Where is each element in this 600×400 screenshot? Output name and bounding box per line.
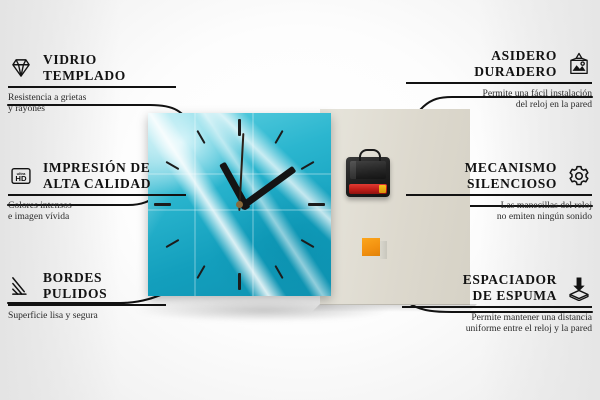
clock-mechanism xyxy=(346,157,390,197)
clock-tick xyxy=(165,239,179,248)
feature-subtitle-line1: Colores intensos xyxy=(8,200,72,211)
feature-subtitle-line1: Las manecillas del reloj xyxy=(501,200,592,211)
feature-title-line2: PULIDOS xyxy=(43,286,107,301)
feature-title-line2: SILENCIOSO xyxy=(467,176,557,191)
clock-tick xyxy=(196,130,205,144)
feature-subtitle: Superficie lisa y segura xyxy=(8,310,208,321)
feature-heading: ultra HD IMPRESIÓN DE ALTA CALIDAD xyxy=(8,160,208,191)
feature-impresion-hd: ultra HD IMPRESIÓN DE ALTA CALIDAD Color… xyxy=(8,160,208,222)
feature-subtitle-line2: no emiten ningún sonido xyxy=(497,211,592,222)
feature-mecanismo-silencioso: MECANISMO SILENCIOSO Las manecillas del … xyxy=(392,160,592,222)
feature-subtitle: Resistencia a grietas y rayones xyxy=(8,92,208,115)
feature-divider xyxy=(402,306,592,308)
feature-title: BORDES PULIDOS xyxy=(43,270,107,301)
feature-subtitle-line2: del reloj en la pared xyxy=(516,99,592,110)
polished-edges-icon xyxy=(8,273,34,299)
glass-line-v2 xyxy=(252,113,254,296)
battery xyxy=(349,184,387,194)
feature-heading: ESPACIADOR DE ESPUMA xyxy=(392,272,592,303)
feature-subtitle-line1: Resistencia a grietas xyxy=(8,92,86,103)
feature-title-line1: ASIDERO xyxy=(491,48,557,63)
feature-subtitle: Las manecillas del reloj no emiten ningú… xyxy=(392,200,592,223)
feature-subtitle-line1: Superficie lisa y segura xyxy=(8,310,98,321)
picture-frame-hanger-icon xyxy=(566,51,592,77)
foam-spacer xyxy=(362,238,380,256)
feature-divider xyxy=(8,194,186,196)
feature-title: ESPACIADOR DE ESPUMA xyxy=(463,272,557,303)
clock-tick xyxy=(300,239,314,248)
clock-tick xyxy=(308,203,325,206)
feature-divider xyxy=(8,304,166,306)
mechanism-hook xyxy=(359,149,381,161)
feature-heading: ASIDERO DURADERO xyxy=(392,48,592,79)
feature-title-line1: ESPACIADOR xyxy=(463,272,557,287)
ultra-hd-icon: ultra HD xyxy=(8,163,34,189)
clock-tick xyxy=(238,273,241,290)
feature-title: VIDRIO TEMPLADO xyxy=(43,52,126,83)
feature-title-line1: BORDES xyxy=(43,270,102,285)
clock-tick xyxy=(274,130,283,144)
feature-subtitle-line1: Permite mantener una distancia xyxy=(471,312,592,323)
feature-subtitle: Permite una fácil instalación del reloj … xyxy=(392,88,592,111)
feature-subtitle-line2: y rayones xyxy=(8,103,45,114)
feature-heading: MECANISMO SILENCIOSO xyxy=(392,160,592,191)
infographic-canvas: VIDRIO TEMPLADO Resistencia a grietas y … xyxy=(0,0,600,400)
clock-center-cap xyxy=(236,201,243,208)
clock-tick xyxy=(300,161,314,170)
feature-title-line2: ALTA CALIDAD xyxy=(43,176,151,191)
mechanism-housing xyxy=(350,161,386,179)
diamond-icon xyxy=(8,55,34,81)
feature-divider xyxy=(406,194,592,196)
feature-subtitle-line2: uniforme entre el reloj y la pared xyxy=(466,323,592,334)
feature-title: ASIDERO DURADERO xyxy=(474,48,557,79)
feature-title: IMPRESIÓN DE ALTA CALIDAD xyxy=(43,160,151,191)
feature-title-line2: TEMPLADO xyxy=(43,68,126,83)
feature-bordes-pulidos: BORDES PULIDOS Superficie lisa y segura xyxy=(8,270,208,321)
gear-icon xyxy=(566,163,592,189)
clock-tick xyxy=(238,119,241,136)
feature-subtitle: Permite mantener una distancia uniforme … xyxy=(392,312,592,335)
clock-tick xyxy=(274,265,283,279)
feature-title-line2: DURADERO xyxy=(474,64,557,79)
ultra-hd-icon-large-text: HD xyxy=(15,174,27,183)
feature-vidrio-templado: VIDRIO TEMPLADO Resistencia a grietas y … xyxy=(8,52,208,114)
feature-divider xyxy=(406,82,592,84)
feature-title: MECANISMO SILENCIOSO xyxy=(465,160,557,191)
feature-subtitle-line2: e imagen vívida xyxy=(8,211,69,222)
feature-title-line2: DE ESPUMA xyxy=(472,288,557,303)
feature-heading: BORDES PULIDOS xyxy=(8,270,208,301)
feature-espaciador-espuma: ESPACIADOR DE ESPUMA Permite mantener un… xyxy=(392,272,592,334)
feature-subtitle-line1: Permite una fácil instalación xyxy=(483,88,593,99)
arrow-down-pad-icon xyxy=(566,275,592,301)
feature-asidero-duradero: ASIDERO DURADERO Permite una fácil insta… xyxy=(392,48,592,110)
feature-divider xyxy=(8,86,176,88)
feature-title-line1: MECANISMO xyxy=(465,160,557,175)
feature-subtitle: Colores intensos e imagen vívida xyxy=(8,200,208,223)
feature-title-line1: IMPRESIÓN DE xyxy=(43,160,150,175)
feature-heading: VIDRIO TEMPLADO xyxy=(8,52,208,83)
feature-title-line1: VIDRIO xyxy=(43,52,97,67)
